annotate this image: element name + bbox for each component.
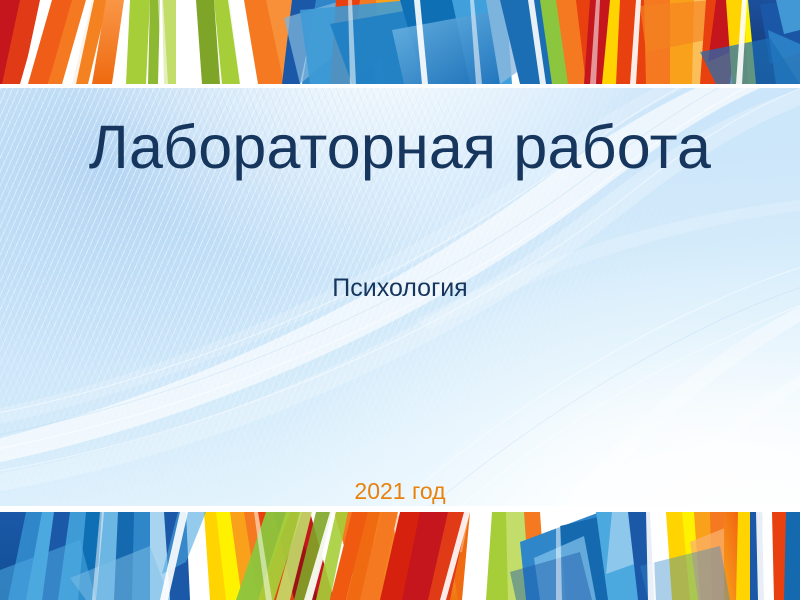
bottom-band-geometric-artwork bbox=[0, 512, 800, 600]
top-band-geometric-artwork bbox=[0, 0, 800, 84]
top-band-separator bbox=[0, 84, 800, 88]
slide-subtitle: Психология bbox=[0, 273, 800, 303]
slide-title: Лабораторная работа bbox=[0, 113, 800, 181]
slide-year: 2021 год bbox=[0, 477, 800, 505]
presentation-slide: Лабораторная работа Психология 2021 год bbox=[0, 0, 800, 600]
top-decorative-band bbox=[0, 0, 800, 84]
bottom-decorative-band bbox=[0, 512, 800, 600]
